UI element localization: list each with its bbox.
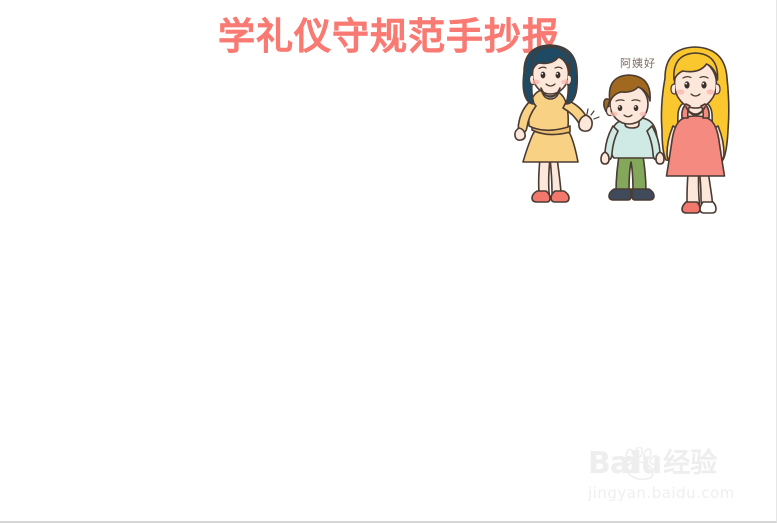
page-title: 学礼仪守规范手抄报 — [218, 16, 538, 58]
baidu-watermark: Bai du 经验 jingyan.baidu.com — [588, 446, 768, 508]
poster-canvas: 学礼仪守规范手抄报 .ln { fill:none; stroke:#4a3b3… — [0, 0, 777, 523]
figure-woman — [515, 45, 599, 202]
figure-boy — [601, 75, 664, 200]
paw-print-icon — [620, 447, 660, 481]
watermark-logo-row: Bai du 经验 — [588, 446, 768, 482]
watermark-brand-accent: du — [620, 447, 661, 481]
watermark-suffix-text: 经验 — [663, 447, 717, 481]
speech-text-greeting: 阿姨好 — [620, 57, 656, 70]
watermark-brand-text: Bai — [588, 447, 638, 481]
figure-girl — [661, 47, 728, 213]
watermark-url: jingyan.baidu.com — [588, 484, 768, 502]
